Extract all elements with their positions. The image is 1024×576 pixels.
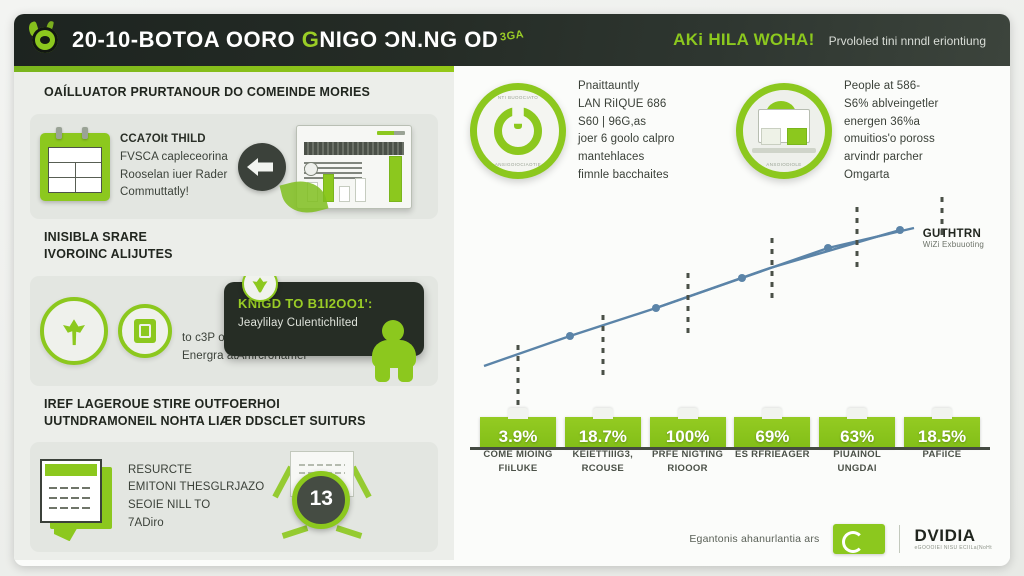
section-3-heading: IREF LAGEROUE STIRE OUTFOERHOI UUTNDRAMO… (44, 396, 438, 430)
bar-4-value: 69% (755, 427, 789, 447)
nvidia-eye-logo-icon (30, 25, 60, 55)
document-icon (40, 459, 118, 535)
x-label-5-line-1: PlUAINOL (819, 448, 895, 462)
bar-3-value: 100% (666, 427, 709, 447)
footer-branding: Egantonis ahanurlantia ars DVIDIA eGOOOI… (689, 524, 992, 554)
section-3-body-line-1: RESURCTE (128, 462, 264, 480)
section-1-heading: OAÍLLUATOR PRURTANOUR DO COMEINDE MORIES (44, 84, 438, 101)
stat-item-1-text: Pnaittauntly LAN RiIQUE 686 S60 | 96G,as… (578, 78, 675, 185)
stat-1-line-5: mantehlaces (578, 149, 675, 167)
medal-value: 13 (310, 487, 333, 511)
eco-logo-icon (833, 524, 885, 554)
section-2-heading-line-2: IVOROINC ALIJUTES (44, 246, 438, 263)
x-label-2-line-2: RCOUSE (565, 462, 641, 476)
stat-1-line-1: Pnaittauntly (578, 78, 675, 96)
stat-1-line-3: S60 | 96G,as (578, 114, 675, 132)
bar-column-2[interactable]: 18.7% (565, 417, 641, 447)
section-1-body: CCA7OIt THILD FVSCA capleceorina Roosela… (120, 131, 228, 202)
stat-2-line-4: omuitios'o poross (844, 131, 938, 149)
x-label-4-line-1: ES RFRIEAGER (734, 448, 810, 462)
drop-connector (856, 207, 859, 269)
bar-6[interactable]: 18.5% (904, 417, 980, 447)
chart-bars: 3.9% 18.7% (470, 216, 990, 447)
stat-1-line-4: joer 6 goolo calpro (578, 131, 675, 149)
stat-item-2: ANSOIODIOLE People at 586- S6% ablveinge… (736, 78, 994, 185)
x-label-1: COME MIOING FIiLUKE (480, 448, 556, 488)
footer-brand: DVIDIA eGOOOIEI NISU ECIILa(NoHt (914, 527, 992, 551)
medal-badge-icon: 13 (274, 451, 370, 543)
bar-3[interactable]: 100% (650, 417, 726, 447)
right-column: NTI BUOOCIATO ANSIGOIOCIAOTIE Pnaittaunt… (454, 66, 1010, 560)
drop-connector (601, 315, 604, 377)
stat-2-line-5: arvindr parcher (844, 149, 938, 167)
drop-connector (771, 238, 774, 300)
ring-bottom-note-2: ANSOIODIOLE (766, 162, 801, 167)
bar-2[interactable]: 18.7% (565, 417, 641, 447)
person-figure-icon (366, 320, 422, 382)
bar-1[interactable]: 3.9% (480, 417, 556, 447)
x-label-2: KEIETTIIIG3, RCOUSE (565, 448, 641, 488)
section-3-body-line-3: SEOIE NILL TO (128, 497, 264, 515)
section-1-body-line-3: Rooselan iuer Rader (120, 167, 228, 185)
x-label-6-line-1: PAFiICE (904, 448, 980, 462)
stat-2-line-2: S6% ablveingetler (844, 96, 938, 114)
chip-circle-icon (118, 304, 172, 358)
stat-item-1: NTI BUOOCIATO ANSIGOIOCIAOTIE Pnaittaunt… (470, 78, 728, 185)
section-3-body-line-4: 7ADiro (128, 515, 264, 533)
stat-badges: NTI BUOOCIATO ANSIGOIOCIAOTIE Pnaittaunt… (462, 76, 996, 185)
x-label-5-line-2: UNGDAl (819, 462, 895, 476)
x-label-3: PRFE NIGTING RIOOOR (650, 448, 726, 488)
section-1-body-line-2: FVSCA capleceorina (120, 149, 228, 167)
infographic-poster: 20-10-BOTOA OORO GNIGO ƆN.NG OD3GA AKi H… (0, 0, 1024, 576)
footer-brand-sub: eGOOOIEI NISU ECIILa(NoHt (914, 546, 992, 552)
stat-1-line-2: LAN RiIQUE 686 (578, 96, 675, 114)
header-subtitle: Prvololed tini nnndl eriontiung (829, 34, 986, 48)
section-3-panel: RESURCTE EMITONI THESGLRJAZO SEOIE NILL … (30, 442, 438, 552)
power-circle-icon: NTI BUOOCIATO ANSIGOIOCIAOTIE (470, 83, 566, 179)
left-column: OAÍLLUATOR PRURTANOUR DO COMEINDE MORIES… (14, 66, 454, 560)
section-1-panel: CCA7OIt THILD FVSCA capleceorina Roosela… (30, 114, 438, 220)
dashboard-card-icon (296, 125, 412, 209)
x-label-3-line-1: PRFE NIGTING (650, 448, 726, 462)
page-title: 20-10-BOTOA OORO GNIGO ƆN.NG OD3GA (72, 27, 524, 53)
bar-column-5[interactable]: 63% (819, 417, 895, 447)
chart-plot-area: GUTHTRN WiZi Exbuuoting 3.9% (470, 216, 990, 450)
title-superscript: 3GA (500, 28, 526, 43)
section-2-panel: to c3P ottidisj resuoiavs Energra atAmrc… (30, 276, 438, 386)
bar-column-6[interactable]: 18.5% (904, 417, 980, 447)
bar-column-3[interactable]: 100% (650, 417, 726, 447)
bar-5-value: 63% (840, 427, 874, 447)
bar-1-value: 3.9% (499, 427, 538, 447)
bar-column-1[interactable]: 3.9% (480, 417, 556, 447)
poster-body: OAÍLLUATOR PRURTANOUR DO COMEINDE MORIES… (14, 66, 1010, 560)
plant-circle-icon (40, 297, 108, 365)
title-prefix: 20-10-BOTOA OORO (72, 27, 302, 52)
section-1-body-line-1: CCA7OIt THILD (120, 131, 228, 149)
chart-x-labels: COME MIOING FIiLUKE KEIETTIIIG3, RCOUSE … (470, 448, 990, 488)
stat-1-line-6: fimnle bacchaites (578, 167, 675, 185)
x-label-6: PAFiICE (904, 448, 980, 488)
title-suffix: NIGO ƆN.NG OD (319, 27, 498, 52)
section-3-body: RESURCTE EMITONI THESGLRJAZO SEOIE NILL … (128, 462, 264, 533)
leaf-icon (279, 175, 328, 218)
section-2-heading-line-1: INISIBLA SRARE (44, 229, 438, 246)
section-1-body-line-4: Commuttatly! (120, 184, 228, 202)
header-tagline: AKi HILA WOHA! (673, 30, 814, 50)
x-label-1-line-1: COME MIOING (480, 448, 556, 462)
ring-top-note: NTI BUOOCIATO (498, 95, 538, 100)
bar-column-4[interactable]: 69% (734, 417, 810, 447)
footer-brand-name: DVIDIA (914, 527, 992, 546)
title-accent: G (302, 27, 320, 52)
poster-card: 20-10-BOTOA OORO GNIGO ƆN.NG OD3GA AKi H… (14, 14, 1010, 566)
stat-2-line-6: Omgarta (844, 167, 938, 185)
x-label-4: ES RFRIEAGER (734, 448, 810, 488)
ring-bottom-note: ANSIGOIOCIAOTIE (495, 162, 541, 167)
drop-connector (686, 273, 689, 335)
bar-6-value: 18.5% (918, 427, 966, 447)
bar-5[interactable]: 63% (819, 417, 895, 447)
x-label-1-line-2: FIiLUKE (480, 462, 556, 476)
drop-connector (517, 345, 520, 405)
header-bar: 20-10-BOTOA OORO GNIGO ƆN.NG OD3GA AKi H… (14, 14, 1010, 66)
laptop-circle-icon: ANSOIODIOLE (736, 83, 832, 179)
drop-connector (940, 197, 943, 237)
bar-chart: GUTHTRN WiZi Exbuuoting 3.9% (460, 216, 998, 506)
footer-note: Egantonis ahanurlantia ars (689, 533, 819, 545)
footer-divider (899, 525, 900, 553)
section-3-heading-line-1: IREF LAGEROUE STIRE OUTFOERHOI (44, 396, 438, 413)
section-3-heading-line-2: UUTNDRAMONEIL NOHTA LIÆR DDSCLET SUITURS (44, 413, 438, 430)
bar-4[interactable]: 69% (734, 417, 810, 447)
section-3-body-line-2: EMITONI THESGLRJAZO (128, 479, 264, 497)
section-2-heading: INISIBLA SRARE IVOROINC ALIJUTES (44, 229, 438, 263)
spreadsheet-icon (40, 133, 110, 201)
x-label-5: PlUAINOL UNGDAl (819, 448, 895, 488)
bar-2-value: 18.7% (579, 427, 627, 447)
x-label-2-line-1: KEIETTIIIG3, (565, 448, 641, 462)
x-label-3-line-2: RIOOOR (650, 462, 726, 476)
stat-2-line-1: People at 586- (844, 78, 938, 96)
stat-2-line-3: energen 36%a (844, 114, 938, 132)
header-right-group: AKi HILA WOHA! Prvololed tini nnndl erio… (673, 30, 994, 50)
stat-item-2-text: People at 586- S6% ablveingetler energen… (844, 78, 938, 185)
left-arrow-icon (238, 143, 286, 191)
